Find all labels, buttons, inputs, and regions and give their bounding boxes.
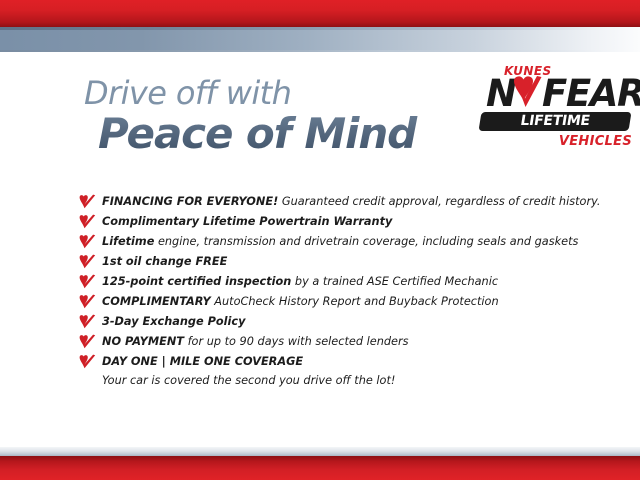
list-item-bold: COMPLIMENTARY: [102, 295, 211, 308]
list-item-bold: NO PAYMENT: [102, 335, 184, 348]
heart-check-icon: [510, 74, 544, 114]
list-item-rest: Guaranteed credit approval, regardless o…: [278, 195, 600, 208]
list-item-bold: FINANCING FOR EVERYONE!: [102, 195, 278, 208]
logo-certified-text: LIFETIME CERTIFIED: [478, 112, 631, 131]
list-item-subtext: Your car is covered the second you drive…: [78, 372, 598, 389]
list-item: Complimentary Lifetime Powertrain Warran…: [78, 212, 598, 232]
list-item-text: FINANCING FOR EVERYONE! Guaranteed credi…: [102, 195, 601, 208]
list-item: COMPLIMENTARY AutoCheck History Report a…: [78, 292, 598, 312]
list-item-bold: 1st oil change FREE: [102, 255, 227, 268]
top-blue-gradient-bar: [0, 27, 640, 52]
list-item-text: Lifetime engine, transmission and drivet…: [102, 235, 578, 248]
list-item-text: 125-point certified inspection by a trai…: [102, 275, 498, 288]
headline-line-2: Peace of Mind: [98, 111, 484, 157]
heart-check-icon: [78, 294, 96, 309]
list-item-text: 3-Day Exchange Policy: [102, 315, 245, 328]
heart-check-icon: [78, 334, 96, 349]
list-item-bold: 125-point certified inspection: [102, 275, 291, 288]
logo-nofear-wordmark: N FEAR: [484, 76, 636, 114]
headline-block: Drive off with Peace of Mind: [84, 76, 484, 157]
list-item-rest: AutoCheck History Report and Buyback Pro…: [211, 295, 499, 308]
logo-certified-banner: LIFETIME CERTIFIED: [478, 112, 631, 131]
list-item: 1st oil change FREE: [78, 252, 598, 272]
list-item-text: COMPLIMENTARY AutoCheck History Report a…: [102, 295, 499, 308]
heart-check-icon: [78, 234, 96, 249]
list-item-bold: Complimentary Lifetime Powertrain Warran…: [102, 215, 392, 228]
list-item-text: NO PAYMENT for up to 90 days with select…: [102, 335, 409, 348]
list-item: 125-point certified inspection by a trai…: [78, 272, 598, 292]
bottom-red-accent-bar: [0, 456, 640, 480]
list-item: NO PAYMENT for up to 90 days with select…: [78, 332, 598, 352]
heart-check-icon: [78, 314, 96, 329]
heart-check-icon: [78, 274, 96, 289]
list-item: Lifetime engine, transmission and drivet…: [78, 232, 598, 252]
logo-word-fear: FEAR: [542, 75, 640, 112]
list-item-bold: Lifetime: [102, 235, 154, 248]
list-item: DAY ONE | MILE ONE COVERAGE: [78, 352, 598, 372]
heart-check-icon: [78, 354, 96, 369]
logo-vehicles-text: VEHICLES: [559, 134, 632, 149]
headline-line-1: Drive off with: [84, 76, 484, 110]
heart-check-icon: [78, 214, 96, 229]
list-item-bold: 3-Day Exchange Policy: [102, 315, 245, 328]
promotional-banner: Drive off with Peace of Mind KUNES N FEA…: [0, 0, 640, 480]
list-item-rest: engine, transmission and drivetrain cove…: [154, 235, 578, 248]
list-item-text: 1st oil change FREE: [102, 255, 227, 268]
list-item-text: Complimentary Lifetime Powertrain Warran…: [102, 215, 392, 228]
benefits-list: FINANCING FOR EVERYONE! Guaranteed credi…: [78, 192, 598, 389]
heart-check-icon: [78, 194, 96, 209]
kunes-no-fear-logo: KUNES N FEAR LIFETIME CERTIFIED VEHICLES: [478, 62, 634, 162]
list-item: FINANCING FOR EVERYONE! Guaranteed credi…: [78, 192, 598, 212]
list-item-text: DAY ONE | MILE ONE COVERAGE: [102, 355, 303, 368]
bottom-gray-strip: [0, 447, 640, 456]
list-item: 3-Day Exchange Policy: [78, 312, 598, 332]
top-red-accent-bar: [0, 0, 640, 27]
heart-check-icon: [78, 254, 96, 269]
list-item-rest: by a trained ASE Certified Mechanic: [291, 275, 498, 288]
list-item-rest: for up to 90 days with selected lenders: [184, 335, 409, 348]
list-item-bold: DAY ONE | MILE ONE COVERAGE: [102, 355, 303, 368]
